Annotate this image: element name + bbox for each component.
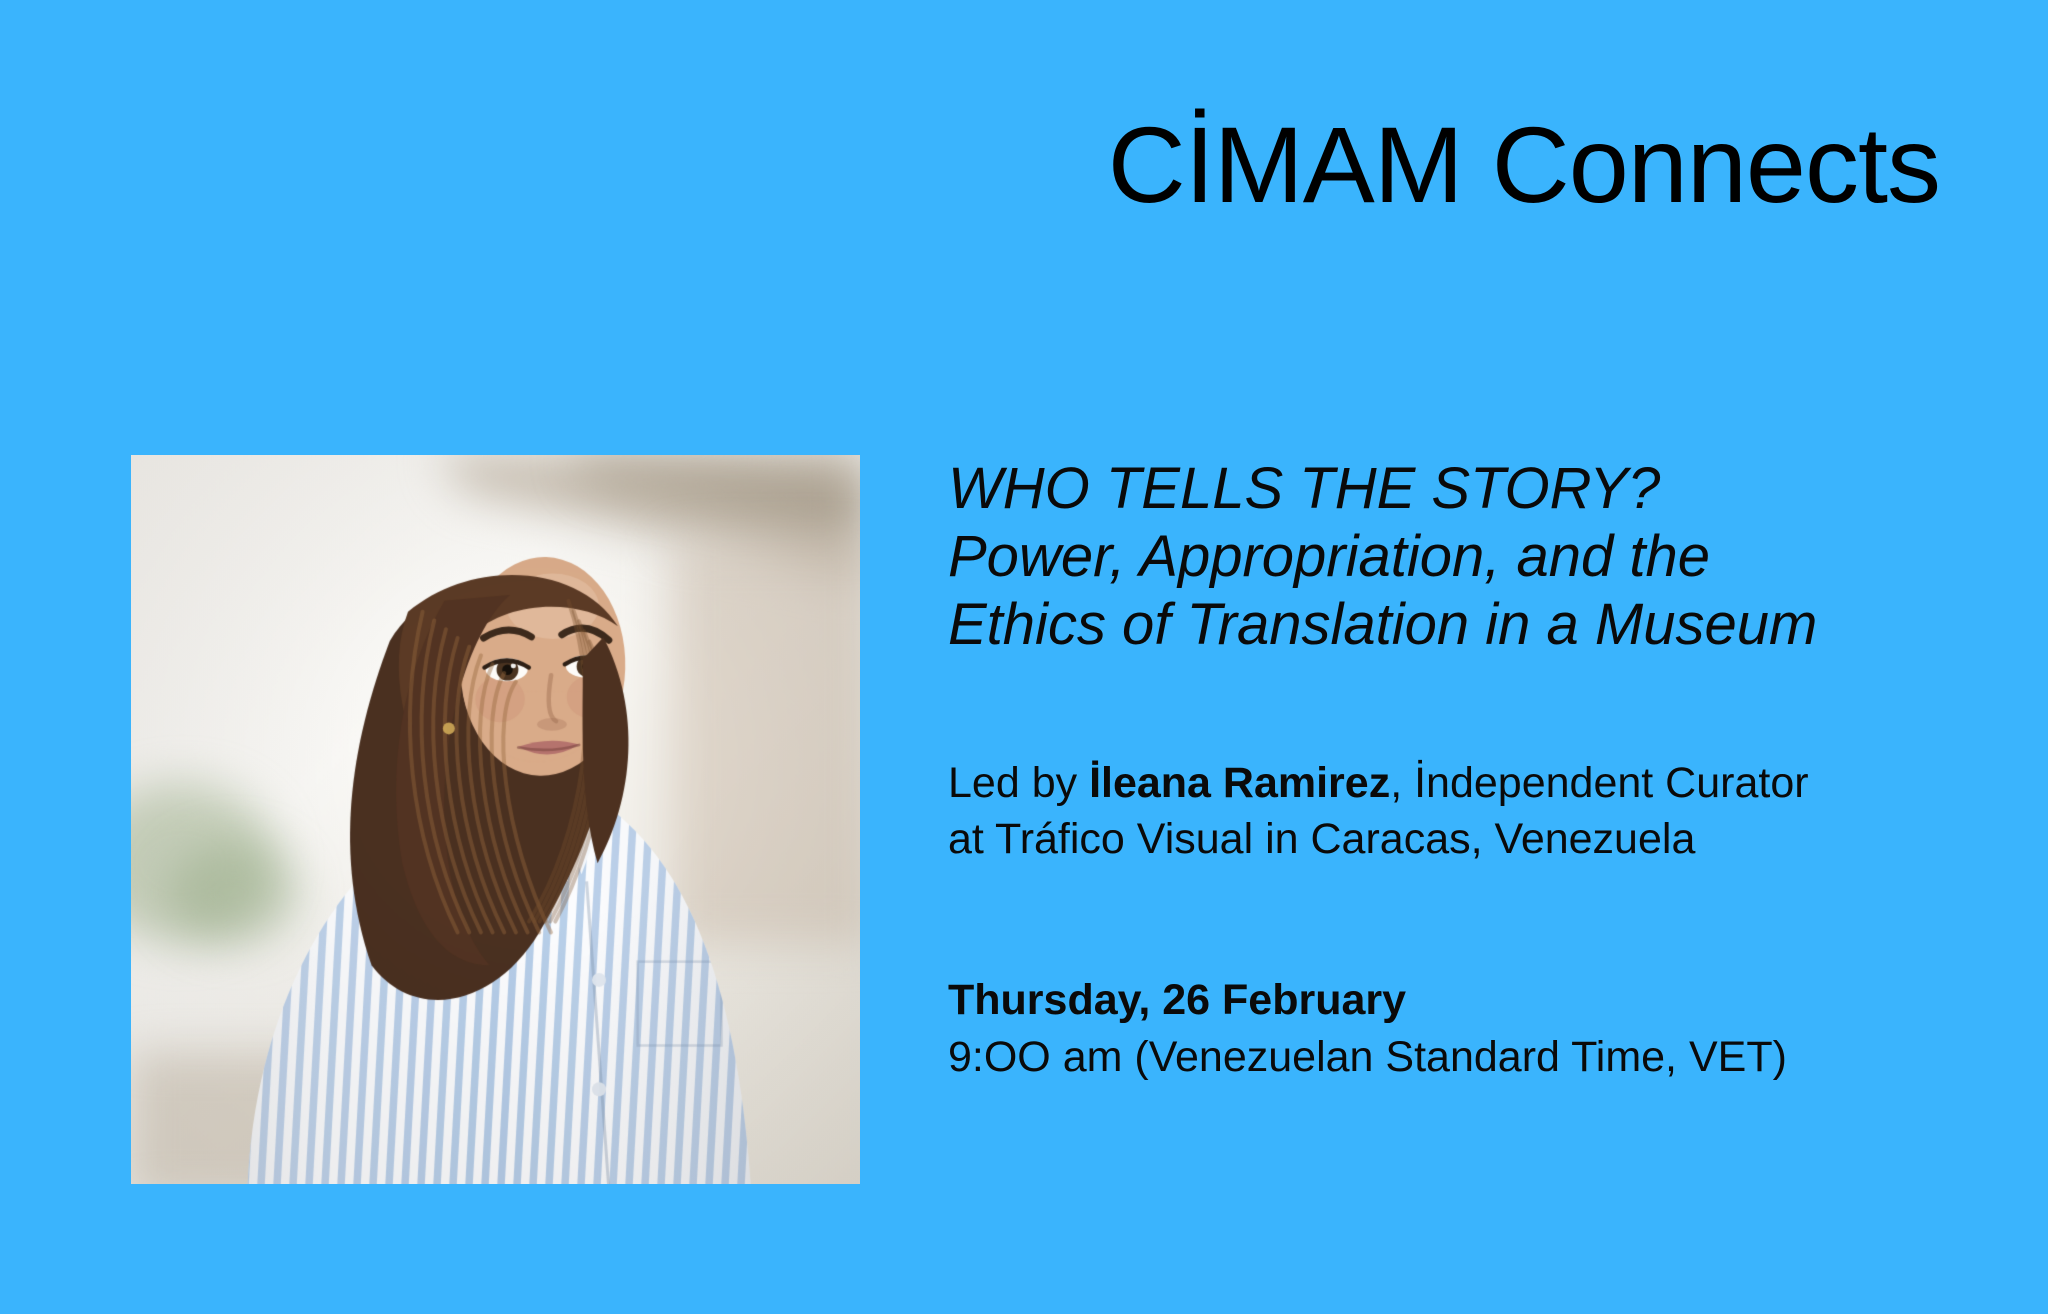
page-title: CİMAM Connects	[0, 108, 1940, 221]
portrait-image	[131, 455, 860, 1184]
event-time: 9:OO am (Venezuelan Standard Time, VET)	[948, 1029, 1978, 1086]
session-title-line-2: Power, Appropriation, and the	[948, 523, 1978, 591]
event-schedule: Thursday, 26 February 9:OO am (Venezuela…	[948, 972, 1978, 1086]
speaker-name: İleana Ramirez	[1089, 759, 1390, 807]
event-announcement-poster: CİMAM Connects WHO TELLS THE STORY? Powe…	[0, 0, 2048, 1314]
event-date: Thursday, 26 February	[948, 972, 1978, 1029]
speaker-credit: Led by İleana Ramirez, İndependent Curat…	[948, 755, 1978, 869]
session-title-line-3: Ethics of Translation in a Museum	[948, 591, 1978, 659]
speaker-credit-line-1: Led by İleana Ramirez, İndependent Curat…	[948, 755, 1978, 812]
speaker-credit-prefix: Led by	[948, 759, 1089, 807]
speaker-portrait-photo	[131, 455, 860, 1184]
session-title-line-1: WHO TELLS THE STORY?	[948, 455, 1978, 523]
speaker-affiliation: at Tráfico Visual in Caracas, Venezuela	[948, 811, 1978, 868]
event-details-column: WHO TELLS THE STORY? Power, Appropriatio…	[948, 455, 1978, 1086]
speaker-role: , İndependent Curator	[1390, 759, 1808, 807]
session-title: WHO TELLS THE STORY? Power, Appropriatio…	[948, 455, 1978, 659]
